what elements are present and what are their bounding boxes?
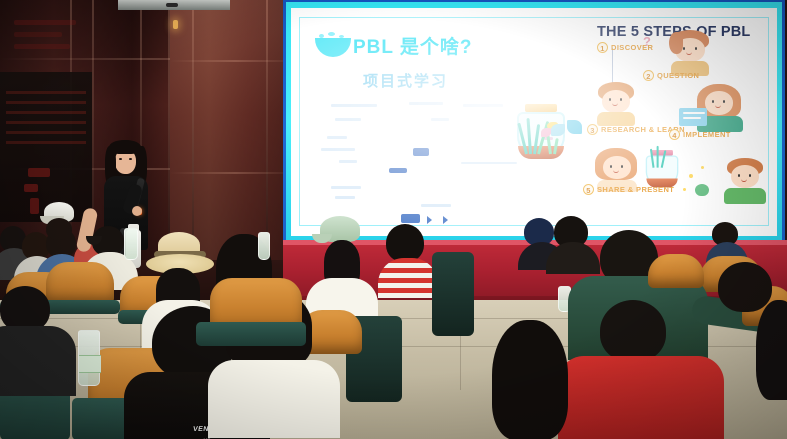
step-label: IMPLEMENT <box>683 130 731 139</box>
ceiling-speaker-icon <box>166 3 178 7</box>
red-jacket <box>558 356 724 439</box>
step-item-2: 2QUESTION <box>643 70 699 81</box>
water-bottle <box>78 330 100 386</box>
wall-banner-board <box>0 72 92 222</box>
sparkle-icon <box>689 174 693 178</box>
chair-frame <box>196 322 306 346</box>
step-label: SHARE & PRESENT <box>597 185 674 194</box>
step-number: 1 <box>597 42 608 53</box>
leaf-bowl-logo <box>315 32 351 58</box>
slide-bullet-chip <box>401 214 420 223</box>
slide-title: PBL 是个啥? <box>353 32 473 59</box>
sprout-icon <box>695 184 709 196</box>
slide-bullet-chip <box>413 148 429 156</box>
cartoon-kid-research <box>591 82 641 126</box>
step-number: 4 <box>669 129 680 140</box>
step-number: 3 <box>587 124 598 135</box>
slide-bullet-chip <box>389 168 407 173</box>
paper-icon <box>683 112 705 114</box>
auditorium-chair <box>46 262 114 304</box>
butterfly-icon <box>541 128 551 137</box>
butterfly-icon <box>567 120 582 134</box>
auditorium-chair <box>648 254 704 288</box>
striped-shirt <box>378 258 438 298</box>
cartoon-kid-present <box>721 158 771 204</box>
sparkle-icon <box>683 188 686 191</box>
presentation-slide: PBL 是个啥? 项目式学习 <box>291 8 777 236</box>
mini-terrarium-illustration <box>643 150 666 176</box>
speaker-box <box>432 252 474 336</box>
paper-icon <box>683 117 701 119</box>
question-mark-icon: ? <box>643 34 651 49</box>
step-number: 2 <box>643 70 654 81</box>
butterfly-icon <box>551 124 565 136</box>
step-item-5: 5SHARE & PRESENT <box>583 184 674 195</box>
classroom-presentation-photo: PBL 是个啥? 项目式学习 <box>0 0 787 439</box>
step-item-4: 4IMPLEMENT <box>669 129 731 140</box>
step-label: QUESTION <box>657 71 699 80</box>
sparkle-icon <box>701 166 704 169</box>
slide-subtitle: 项目式学习 <box>363 70 448 91</box>
water-bottle <box>258 232 270 260</box>
wall-lamp-icon <box>173 20 178 29</box>
step-number: 5 <box>583 184 594 195</box>
water-bottle <box>124 228 138 260</box>
